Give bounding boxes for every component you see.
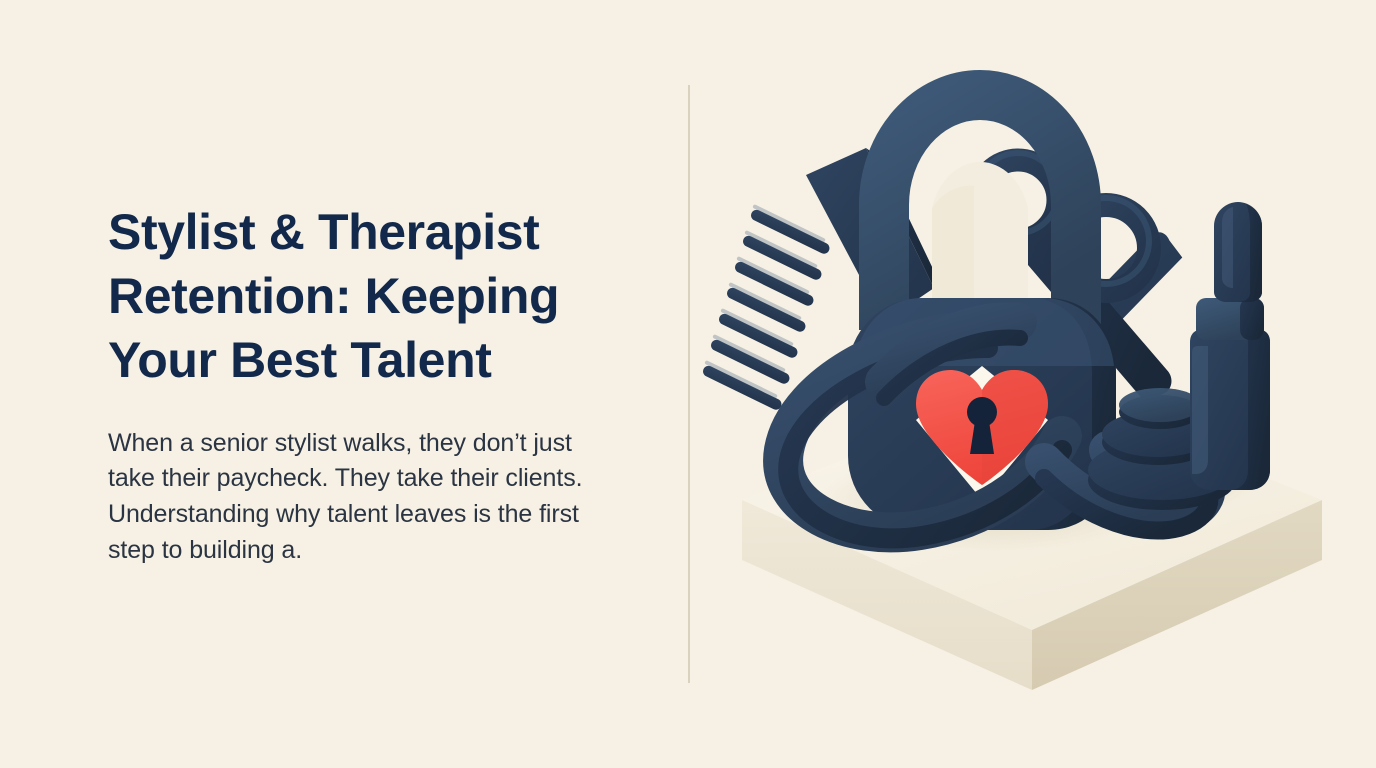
stone-top-highlight <box>1119 388 1201 422</box>
bottle-cap-collar-shade <box>1240 298 1264 340</box>
page-title: Stylist & Therapist Retention: Keeping Y… <box>108 200 613 392</box>
bottle-bulb-highlight <box>1222 207 1233 288</box>
bottle-glass-highlight <box>1192 346 1208 474</box>
dropper-bottle-icon <box>1190 202 1270 490</box>
slide-canvas: Stylist & Therapist Retention: Keeping Y… <box>0 0 1376 768</box>
illustration-pane <box>688 0 1376 768</box>
salon-retention-lock-illustration <box>688 30 1376 738</box>
page-subcopy: When a senior stylist walks, they don’t … <box>108 426 608 569</box>
text-pane: Stylist & Therapist Retention: Keeping Y… <box>0 0 688 768</box>
